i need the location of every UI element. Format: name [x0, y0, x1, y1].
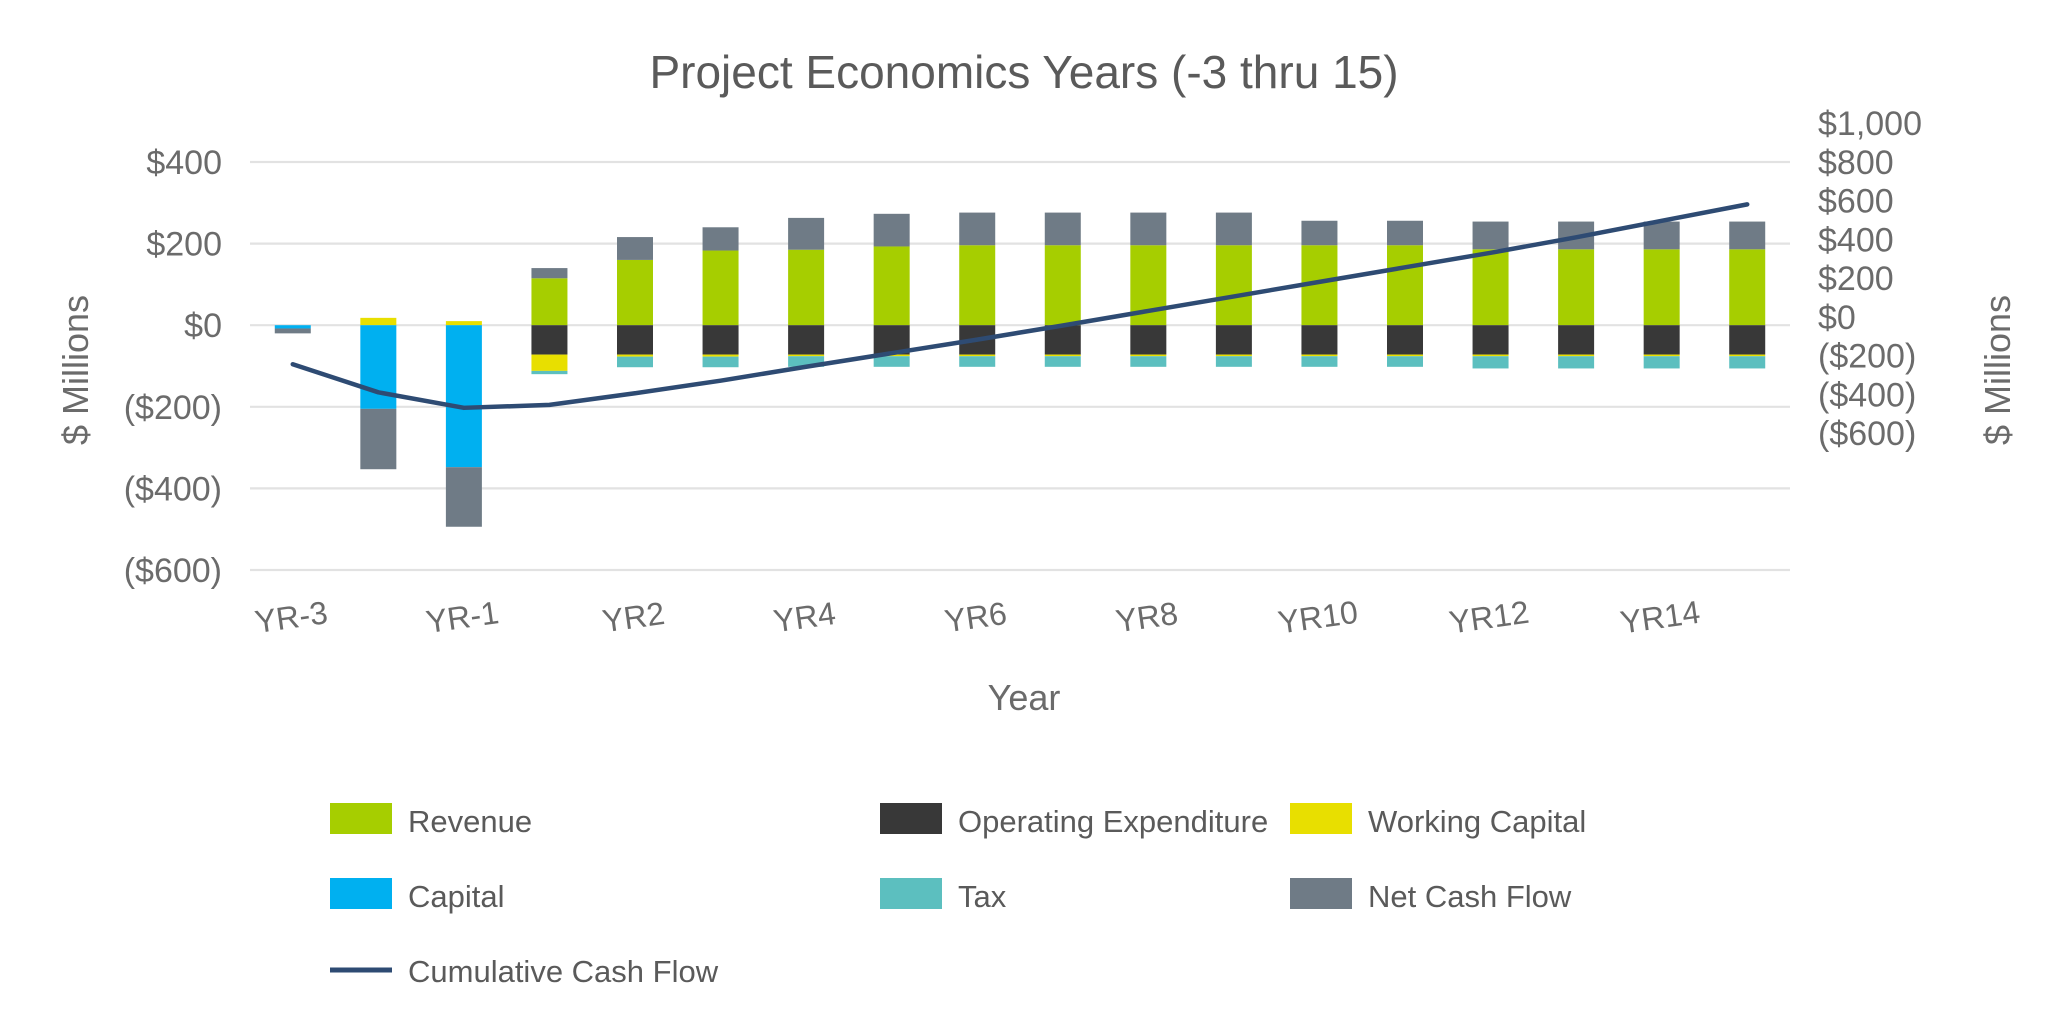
bar-segment[interactable]: [1130, 355, 1166, 357]
bar-segment[interactable]: [788, 325, 824, 354]
y-axis-right-tick-label: ($400): [1818, 376, 1916, 414]
bar-segment[interactable]: [1729, 356, 1765, 368]
bar-segment[interactable]: [617, 325, 653, 354]
legend-item-label: Working Capital: [1368, 804, 1586, 839]
bar-segment[interactable]: [1130, 213, 1166, 246]
bar-segment[interactable]: [1729, 222, 1765, 250]
bar-segment[interactable]: [360, 409, 396, 469]
y-axis-right-tick-label: $600: [1818, 183, 1894, 221]
bar-segment[interactable]: [1558, 325, 1594, 354]
x-axis-title: Year: [988, 677, 1061, 718]
bar-segment[interactable]: [1644, 355, 1680, 357]
chart-container: Project Economics Years (-3 thru 15) $40…: [0, 0, 2048, 1013]
bar-segment[interactable]: [1473, 356, 1509, 368]
y-axis-left-tick-label: ($200): [124, 389, 222, 427]
y-axis-right-tick-label: ($600): [1818, 415, 1916, 453]
bar-segment[interactable]: [617, 237, 653, 260]
y-axis-right-tick-label: ($200): [1818, 338, 1916, 376]
bar-segment[interactable]: [959, 356, 995, 367]
bar-segment[interactable]: [1729, 355, 1765, 357]
bar-segment[interactable]: [1301, 221, 1337, 245]
bar-column[interactable]: [446, 321, 482, 527]
bar-column[interactable]: [788, 218, 824, 367]
x-axis-category-labels: YR-3YR-1YR2YR4YR6YR8YR10YR12YR14: [253, 594, 1703, 641]
bar-segment[interactable]: [1216, 213, 1252, 246]
bar-segment[interactable]: [1644, 222, 1680, 250]
legend-color-swatch: [1290, 878, 1352, 909]
bar-column[interactable]: [1729, 222, 1765, 369]
y-axis-right-tick-label: $200: [1818, 260, 1894, 298]
legend-color-swatch: [1290, 803, 1352, 834]
bar-column[interactable]: [1473, 222, 1509, 369]
bar-segment[interactable]: [275, 328, 311, 333]
legend-color-swatch: [880, 878, 942, 909]
bar-segment[interactable]: [617, 260, 653, 325]
bar-segment[interactable]: [874, 356, 910, 367]
bar-segment[interactable]: [1644, 325, 1680, 354]
bar-segment[interactable]: [1045, 213, 1081, 246]
bar-segment[interactable]: [1473, 222, 1509, 250]
bar-segment[interactable]: [1387, 356, 1423, 367]
bar-segment[interactable]: [1216, 245, 1252, 325]
bar-segment[interactable]: [1045, 245, 1081, 325]
y-axis-right-tick-label: $800: [1818, 144, 1894, 182]
y-axis-left-tick-label: $0: [184, 307, 222, 345]
bar-segment[interactable]: [1301, 356, 1337, 367]
bar-column[interactable]: [1558, 222, 1594, 369]
y-axis-left-tick-label: ($400): [124, 470, 222, 508]
bar-column[interactable]: [1216, 213, 1252, 367]
legend-item[interactable]: Operating Expenditure: [880, 803, 1268, 839]
bar-segment[interactable]: [617, 355, 653, 357]
bar-segment[interactable]: [1387, 221, 1423, 245]
bar-column[interactable]: [617, 237, 653, 367]
bar-segment[interactable]: [703, 357, 739, 368]
bar-segment[interactable]: [446, 325, 482, 467]
bar-column[interactable]: [1130, 213, 1166, 367]
legend-item-label: Capital: [408, 879, 505, 914]
bar-segment[interactable]: [1558, 355, 1594, 357]
bar-column[interactable]: [275, 325, 311, 333]
bar-segment[interactable]: [1387, 355, 1423, 357]
bar-column[interactable]: [531, 268, 567, 374]
bar-segment[interactable]: [959, 213, 995, 246]
bar-segment[interactable]: [1301, 325, 1337, 354]
bar-segment[interactable]: [874, 214, 910, 247]
bar-segment[interactable]: [1473, 355, 1509, 357]
legend-color-swatch: [330, 878, 392, 909]
y-axis-left-tick-label: $400: [146, 144, 222, 182]
bar-segment[interactable]: [703, 251, 739, 326]
bar-segment[interactable]: [1729, 249, 1765, 325]
bar-segment[interactable]: [531, 355, 567, 371]
bar-segment[interactable]: [1387, 325, 1423, 354]
chart-title: Project Economics Years (-3 thru 15): [649, 46, 1398, 98]
legend-item[interactable]: Capital: [330, 878, 505, 914]
bar-segment[interactable]: [360, 318, 396, 325]
bar-segment[interactable]: [874, 246, 910, 325]
y-axis-right-tick-label: $0: [1818, 299, 1856, 337]
y-axis-left-tick-label: $200: [146, 226, 222, 264]
legend-item-label: Cumulative Cash Flow: [408, 954, 719, 989]
bar-segment[interactable]: [788, 218, 824, 250]
y-axis-right-tick-label: $1,000: [1818, 105, 1922, 143]
chart-background: [0, 0, 2048, 1013]
bar-segment[interactable]: [1216, 355, 1252, 357]
bar-segment[interactable]: [1045, 356, 1081, 367]
bar-segment[interactable]: [1644, 249, 1680, 325]
bar-segment[interactable]: [531, 325, 567, 354]
legend-item-label: Tax: [958, 879, 1007, 914]
bar-column[interactable]: [703, 227, 739, 367]
y-axis-right-tick-label: $400: [1818, 221, 1894, 259]
legend-item[interactable]: Net Cash Flow: [1290, 878, 1572, 914]
legend-item[interactable]: Working Capital: [1290, 803, 1586, 839]
bar-segment[interactable]: [1729, 325, 1765, 354]
bar-column[interactable]: [1301, 221, 1337, 367]
bar-segment[interactable]: [1130, 356, 1166, 367]
legend-color-swatch: [330, 803, 392, 834]
bar-segment[interactable]: [1473, 249, 1509, 325]
bar-segment[interactable]: [703, 325, 739, 354]
legend-color-swatch: [880, 803, 942, 834]
y-axis-left-tick-label: ($600): [124, 552, 222, 590]
bar-segment[interactable]: [1216, 325, 1252, 354]
bar-segment[interactable]: [1558, 249, 1594, 325]
bar-segment[interactable]: [1216, 356, 1252, 367]
bar-segment[interactable]: [531, 268, 567, 278]
bar-column[interactable]: [874, 214, 910, 367]
bar-segment[interactable]: [1045, 355, 1081, 357]
bar-segment[interactable]: [1130, 325, 1166, 354]
bar-segment[interactable]: [703, 355, 739, 357]
bar-column[interactable]: [1045, 213, 1081, 367]
bar-segment[interactable]: [1558, 356, 1594, 368]
bar-segment[interactable]: [788, 250, 824, 325]
legend-item-label: Revenue: [408, 804, 532, 839]
legend-item-label: Operating Expenditure: [958, 804, 1268, 839]
bar-segment[interactable]: [531, 278, 567, 325]
y-axis-left-title: $ Millions: [55, 295, 96, 445]
bar-segment[interactable]: [1473, 325, 1509, 354]
legend-item[interactable]: Revenue: [330, 803, 532, 839]
y-axis-right-title: $ Millions: [1977, 295, 2018, 445]
bar-segment[interactable]: [1644, 356, 1680, 368]
bar-segment[interactable]: [703, 227, 739, 250]
bar-segment[interactable]: [1301, 355, 1337, 357]
bar-column[interactable]: [1387, 221, 1423, 367]
bar-segment[interactable]: [959, 245, 995, 325]
bar-segment[interactable]: [959, 355, 995, 357]
bar-segment[interactable]: [531, 371, 567, 374]
bar-segment[interactable]: [1387, 245, 1423, 325]
bar-segment[interactable]: [275, 325, 311, 328]
bar-segment[interactable]: [788, 355, 824, 357]
bar-segment[interactable]: [446, 467, 482, 527]
project-economics-chart[interactable]: Project Economics Years (-3 thru 15) $40…: [0, 0, 2048, 1013]
bar-column[interactable]: [1644, 222, 1680, 369]
legend-item-label: Net Cash Flow: [1368, 879, 1572, 914]
bar-segment[interactable]: [617, 357, 653, 368]
bar-segment[interactable]: [446, 321, 482, 325]
